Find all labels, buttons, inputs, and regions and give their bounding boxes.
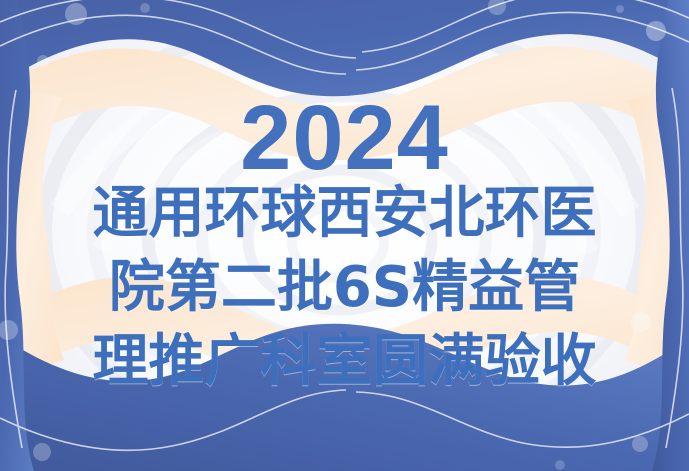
poster-canvas: 2024 通用环球西安北环医 院第二批6S精益管 理推广科室圆满验收	[0, 0, 689, 471]
background-artwork	[0, 0, 689, 471]
